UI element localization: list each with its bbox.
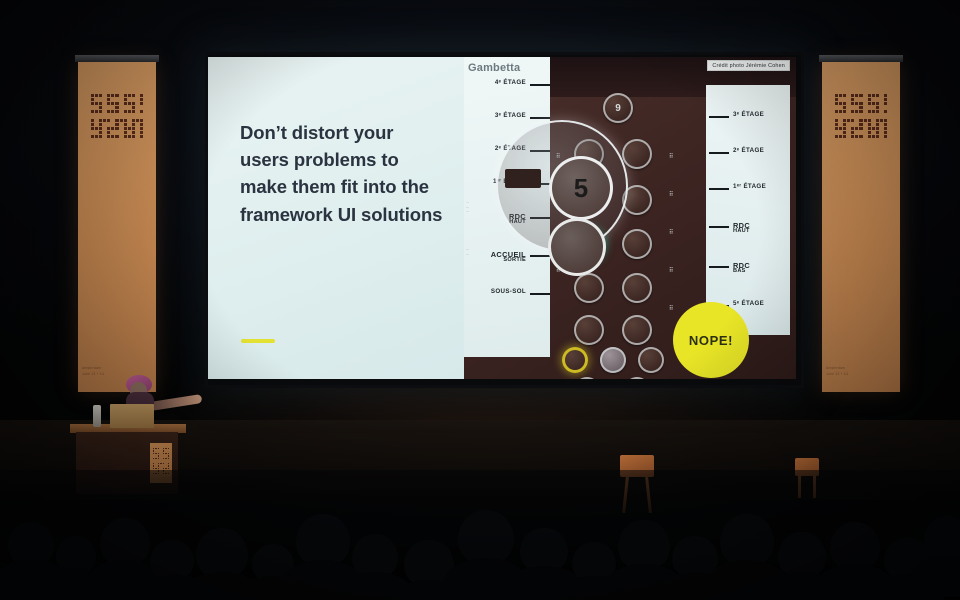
logo-pixel: [132, 94, 135, 97]
logo-pixel: [835, 102, 838, 105]
css-day-logo-right: [835, 94, 887, 138]
logo-pixel: [140, 110, 143, 113]
logo-pixel: [163, 468, 164, 469]
logo-pixel: [851, 114, 854, 117]
logo-pixel: [839, 127, 842, 130]
logo-pixel: [165, 448, 166, 449]
logo-pixel: [111, 135, 114, 138]
logo-pixel: [136, 135, 139, 138]
logo-pixel: [884, 114, 887, 117]
logo-pixel: [847, 131, 850, 134]
floor-dash: [530, 255, 550, 257]
logo-pixel: [111, 123, 114, 126]
logo-pixel: [843, 127, 846, 130]
logo-pixel: [868, 102, 871, 105]
logo-pixel: [124, 110, 127, 113]
logo-pixel: [124, 98, 127, 101]
logo-pixel: [103, 135, 106, 138]
logo-pixel: [839, 123, 842, 126]
logo-pixel: [107, 106, 110, 109]
logo-pixel: [155, 450, 156, 451]
logo-pixel: [855, 131, 858, 134]
floor-label: 4ᵉ ÉTAGE: [495, 79, 526, 86]
floor-dash: [709, 226, 729, 228]
logo-pixel: [155, 460, 156, 461]
logo-pixel: [859, 131, 862, 134]
audience-head: [296, 514, 350, 566]
logo-pixel: [168, 448, 169, 449]
logo-pixel: [851, 131, 854, 134]
nope-badge: NOPE!: [673, 302, 749, 378]
logo-pixel: [868, 123, 871, 126]
logo-pixel: [880, 94, 883, 97]
logo-pixel: [140, 98, 143, 101]
logo-pixel: [111, 110, 114, 113]
logo-pixel: [847, 98, 850, 101]
banner-right-footer: AmsterdamJune 13 + 14: [826, 366, 848, 378]
logo-pixel: [111, 94, 114, 97]
logo-pixel: [120, 98, 123, 101]
logo-pixel: [843, 106, 846, 109]
logo-pixel: [103, 98, 106, 101]
logo-pixel: [843, 114, 846, 117]
logo-pixel: [111, 119, 114, 122]
logo-pixel: [884, 123, 887, 126]
logo-pixel: [132, 114, 135, 117]
elevator-button[interactable]: [574, 273, 604, 303]
logo-pixel: [168, 450, 169, 451]
logo-pixel: [95, 135, 98, 138]
logo-pixel: [165, 463, 166, 464]
floor-label: SOUS-SOL: [491, 288, 526, 295]
floor-dash: [709, 116, 729, 118]
logo-pixel: [864, 131, 867, 134]
elevator-button[interactable]: [600, 347, 626, 373]
floor-dash: [530, 293, 550, 295]
logo-pixel: [872, 123, 875, 126]
logo-pixel: [153, 465, 154, 466]
logo-pixel: [864, 123, 867, 126]
logo-pixel: [835, 131, 838, 134]
logo-pixel: [91, 119, 94, 122]
logo-pixel: [124, 123, 127, 126]
logo-pixel: [95, 102, 98, 105]
logo-pixel: [859, 123, 862, 126]
logo-pixel: [851, 127, 854, 130]
elevator-button[interactable]: [562, 347, 588, 373]
floor-label: 5ᵉ ÉTAGE: [733, 300, 764, 307]
logo-pixel: [111, 127, 114, 130]
magnified-button-lower[interactable]: [548, 218, 606, 276]
elevator-button[interactable]: [574, 315, 604, 345]
logo-pixel: [876, 110, 879, 113]
logo-pixel: [95, 98, 98, 101]
logo-pixel: [91, 127, 94, 130]
logo-pixel: [136, 102, 139, 105]
logo-pixel: [158, 460, 159, 461]
logo-pixel: [140, 114, 143, 117]
logo-pixel: [859, 114, 862, 117]
logo-pixel: [835, 135, 838, 138]
logo-pixel: [868, 110, 871, 113]
logo-pixel: [107, 131, 110, 134]
logo-pixel: [153, 468, 154, 469]
elevator-button[interactable]: [638, 347, 664, 373]
logo-pixel: [165, 458, 166, 459]
logo-pixel: [868, 127, 871, 130]
logo-pixel: [103, 119, 106, 122]
logo-pixel: [859, 119, 862, 122]
logo-pixel: [140, 106, 143, 109]
logo-pixel: [124, 102, 127, 105]
logo-pixel: [880, 123, 883, 126]
logo-pixel: [868, 119, 871, 122]
floor-row-right: RDCHAUT: [706, 221, 790, 235]
logo-pixel: [103, 127, 106, 130]
logo-pixel: [95, 131, 98, 134]
logo-pixel: [851, 102, 854, 105]
audience-head: [924, 516, 960, 562]
micro-note-a: ———: [466, 200, 469, 214]
logo-pixel: [136, 123, 139, 126]
logo-pixel: [880, 98, 883, 101]
floor-dash: [709, 266, 729, 268]
floor-row-left: ACCUEILSORTIE: [466, 250, 550, 264]
logo-pixel: [124, 94, 127, 97]
floor-sublabel: HAUT: [733, 228, 750, 234]
logo-pixel: [99, 127, 102, 130]
logo-pixel: [115, 94, 118, 97]
banner-left: AmsterdamJune 13 + 14: [78, 62, 156, 392]
floor-dash: [530, 84, 550, 86]
logo-pixel: [136, 106, 139, 109]
logo-pixel: [128, 123, 131, 126]
logo-pixel: [132, 102, 135, 105]
logo-pixel: [91, 114, 94, 117]
logo-pixel: [843, 123, 846, 126]
logo-pixel: [95, 94, 98, 97]
logo-pixel: [107, 135, 110, 138]
logo-pixel: [140, 119, 143, 122]
logo-pixel: [140, 123, 143, 126]
logo-pixel: [847, 119, 850, 122]
banner-left-footer: AmsterdamJune 13 + 14: [82, 366, 104, 378]
logo-pixel: [880, 110, 883, 113]
logo-pixel: [868, 131, 871, 134]
logo-pixel: [91, 135, 94, 138]
logo-pixel: [855, 127, 858, 130]
logo-pixel: [855, 106, 858, 109]
logo-pixel: [158, 468, 159, 469]
logo-pixel: [855, 94, 858, 97]
logo-pixel: [153, 448, 154, 449]
logo-pixel: [132, 106, 135, 109]
floor-label: 2ᵉ ÉTAGE: [733, 147, 764, 154]
logo-pixel: [124, 106, 127, 109]
logo-pixel: [99, 102, 102, 105]
audience-head: [196, 528, 248, 578]
logo-pixel: [847, 123, 850, 126]
logo-pixel: [99, 114, 102, 117]
logo-pixel: [884, 98, 887, 101]
logo-pixel: [847, 135, 850, 138]
logo-pixel: [876, 94, 879, 97]
logo-pixel: [115, 102, 118, 105]
audience-head: [830, 522, 880, 570]
logo-pixel: [864, 98, 867, 101]
logo-pixel: [128, 94, 131, 97]
logo-pixel: [115, 123, 118, 126]
logo-pixel: [876, 106, 879, 109]
logo-pixel: [115, 135, 118, 138]
logo-pixel: [136, 119, 139, 122]
logo-pixel: [839, 131, 842, 134]
laptop: [110, 404, 154, 428]
logo-pixel: [168, 468, 169, 469]
logo-pixel: [111, 106, 114, 109]
audience-head: [100, 518, 150, 566]
elevator-button[interactable]: [574, 377, 600, 379]
lens-braille-plate: [505, 169, 541, 188]
logo-pixel: [168, 465, 169, 466]
elevator-button[interactable]: [624, 377, 650, 379]
logo-pixel: [880, 127, 883, 130]
logo-pixel: [855, 123, 858, 126]
logo-pixel: [91, 110, 94, 113]
logo-pixel: [855, 119, 858, 122]
logo-pixel: [107, 94, 110, 97]
logo-pixel: [165, 460, 166, 461]
logo-pixel: [868, 106, 871, 109]
water-bottle: [93, 405, 101, 427]
audience-foreground: [0, 470, 960, 600]
logo-pixel: [835, 94, 838, 97]
logo-pixel: [847, 102, 850, 105]
projection-screen: Don’t distort your users problems to mak…: [208, 57, 796, 379]
logo-pixel: [103, 123, 106, 126]
audience-head: [618, 520, 670, 570]
floor-row-left: 4ᵉ ÉTAGE: [466, 79, 550, 93]
photo-credit-caption: Crédit photo Jérémie Cohen: [707, 60, 790, 71]
logo-pixel: [91, 102, 94, 105]
logo-pixel: [160, 453, 161, 454]
logo-pixel: [120, 131, 123, 134]
floor-sublabel: SORTIE: [503, 257, 526, 263]
logo-pixel: [153, 458, 154, 459]
logo-pixel: [855, 98, 858, 101]
logo-pixel: [165, 468, 166, 469]
logo-pixel: [868, 114, 871, 117]
logo-pixel: [128, 110, 131, 113]
banner-right-rail: [819, 55, 903, 62]
logo-pixel: [128, 119, 131, 122]
logo-pixel: [95, 123, 98, 126]
logo-pixel: [876, 135, 879, 138]
logo-pixel: [851, 106, 854, 109]
logo-pixel: [884, 106, 887, 109]
logo-pixel: [168, 458, 169, 459]
logo-pixel: [160, 455, 161, 456]
logo-pixel: [843, 98, 846, 101]
logo-pixel: [168, 455, 169, 456]
logo-pixel: [140, 94, 143, 97]
logo-pixel: [132, 135, 135, 138]
logo-pixel: [859, 127, 862, 130]
floor-label: 3ᵉ ÉTAGE: [733, 111, 764, 118]
logo-pixel: [115, 110, 118, 113]
slide-text-panel: Don’t distort your users problems to mak…: [208, 57, 473, 379]
logo-pixel: [855, 102, 858, 105]
logo-pixel: [124, 119, 127, 122]
logo-pixel: [835, 106, 838, 109]
logo-pixel: [163, 460, 164, 461]
logo-pixel: [120, 119, 123, 122]
logo-pixel: [153, 450, 154, 451]
logo-pixel: [864, 135, 867, 138]
logo-pixel: [876, 114, 879, 117]
logo-pixel: [124, 127, 127, 130]
logo-pixel: [851, 94, 854, 97]
magnifier-lens: 5: [496, 120, 628, 252]
elevator-button[interactable]: [622, 315, 652, 345]
logo-pixel: [847, 94, 850, 97]
elevator-button[interactable]: [622, 139, 652, 169]
logo-pixel: [128, 114, 131, 117]
logo-pixel: [107, 127, 110, 130]
logo-pixel: [876, 119, 879, 122]
logo-pixel: [864, 110, 867, 113]
logo-pixel: [158, 448, 159, 449]
logo-pixel: [847, 106, 850, 109]
logo-pixel: [99, 94, 102, 97]
logo-pixel: [868, 135, 871, 138]
logo-pixel: [107, 98, 110, 101]
logo-pixel: [165, 450, 166, 451]
logo-pixel: [884, 94, 887, 97]
logo-pixel: [843, 135, 846, 138]
logo-pixel: [120, 114, 123, 117]
logo-pixel: [876, 98, 879, 101]
logo-pixel: [155, 465, 156, 466]
logo-pixel: [158, 463, 159, 464]
logo-pixel: [91, 94, 94, 97]
logo-pixel: [851, 110, 854, 113]
logo-pixel: [124, 135, 127, 138]
banner-right: AmsterdamJune 13 + 14: [822, 62, 900, 392]
logo-pixel: [124, 114, 127, 117]
logo-pixel: [158, 455, 159, 456]
elevator-button[interactable]: [622, 229, 652, 259]
logo-pixel: [872, 98, 875, 101]
logo-pixel: [120, 94, 123, 97]
logo-pixel: [839, 102, 842, 105]
logo-pixel: [864, 94, 867, 97]
logo-pixel: [136, 114, 139, 117]
logo-pixel: [155, 453, 156, 454]
braille-glyph: ⠿: [669, 153, 673, 160]
logo-pixel: [864, 106, 867, 109]
logo-pixel: [165, 455, 166, 456]
logo-pixel: [872, 106, 875, 109]
magnified-button-5[interactable]: 5: [549, 156, 613, 220]
logo-pixel: [132, 131, 135, 134]
floor-row-left: SOUS-SOL: [466, 288, 550, 302]
floor-dash: [530, 117, 550, 119]
logo-pixel: [153, 463, 154, 464]
logo-pixel: [163, 450, 164, 451]
logo-pixel: [111, 98, 114, 101]
elevator-button[interactable]: 9: [603, 93, 633, 123]
logo-pixel: [839, 106, 842, 109]
logo-pixel: [839, 119, 842, 122]
logo-pixel: [124, 131, 127, 134]
logo-pixel: [99, 106, 102, 109]
logo-pixel: [120, 106, 123, 109]
braille-glyph: ⠿: [669, 229, 673, 236]
logo-pixel: [136, 98, 139, 101]
logo-pixel: [168, 460, 169, 461]
logo-pixel: [160, 460, 161, 461]
logo-pixel: [95, 106, 98, 109]
logo-pixel: [160, 458, 161, 459]
floor-row-right: 3ᵉ ÉTAGE: [706, 111, 790, 125]
logo-pixel: [160, 465, 161, 466]
logo-pixel: [103, 94, 106, 97]
floor-label: 3ᵉ ÉTAGE: [495, 112, 526, 119]
logo-pixel: [107, 102, 110, 105]
logo-pixel: [107, 119, 110, 122]
logo-pixel: [168, 463, 169, 464]
logo-pixel: [859, 106, 862, 109]
logo-pixel: [91, 131, 94, 134]
logo-pixel: [872, 114, 875, 117]
logo-pixel: [136, 94, 139, 97]
logo-pixel: [155, 455, 156, 456]
logo-pixel: [880, 119, 883, 122]
logo-pixel: [136, 131, 139, 134]
braille-glyph: ⠿: [669, 191, 673, 198]
logo-pixel: [163, 453, 164, 454]
logo-pixel: [95, 114, 98, 117]
logo-pixel: [839, 135, 842, 138]
logo-pixel: [99, 119, 102, 122]
elevator-photo: Crédit photo Jérémie Cohen Gambetta 4ᵉ É…: [464, 57, 796, 379]
logo-pixel: [99, 131, 102, 134]
logo-pixel: [128, 127, 131, 130]
logo-pixel: [847, 114, 850, 117]
logo-pixel: [163, 458, 164, 459]
logo-pixel: [95, 127, 98, 130]
logo-pixel: [835, 114, 838, 117]
logo-pixel: [155, 463, 156, 464]
logo-pixel: [132, 110, 135, 113]
logo-pixel: [160, 468, 161, 469]
logo-pixel: [835, 110, 838, 113]
logo-pixel: [120, 102, 123, 105]
logo-pixel: [128, 135, 131, 138]
logo-pixel: [864, 102, 867, 105]
logo-pixel: [868, 98, 871, 101]
logo-pixel: [847, 127, 850, 130]
elevator-button[interactable]: [622, 273, 652, 303]
logo-pixel: [155, 458, 156, 459]
logo-pixel: [884, 119, 887, 122]
logo-pixel: [120, 110, 123, 113]
floor-label: 1ᵉʳ ÉTAGE: [733, 183, 766, 190]
logo-pixel: [851, 119, 854, 122]
logo-pixel: [880, 131, 883, 134]
logo-pixel: [843, 102, 846, 105]
